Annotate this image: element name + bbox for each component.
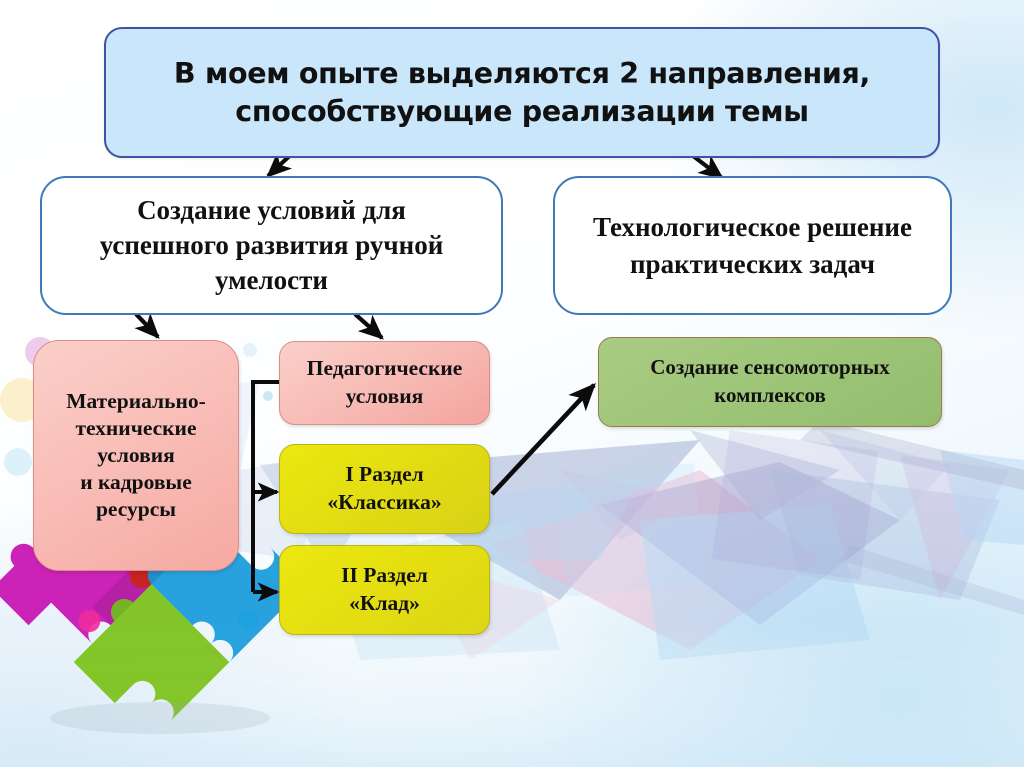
result-sensomotor-complexes: Создание сенсомоторных комплексов — [598, 337, 942, 427]
title-line-2: способствующие реализации темы — [106, 93, 938, 130]
slide-canvas: В моем опыте выделяются 2 направления, с… — [0, 0, 1024, 767]
sensomotor-line-1: Создание сенсомоторных — [599, 354, 941, 382]
material-line-5: ресурсы — [34, 496, 238, 523]
condition-pedagogical: Педагогические условия — [279, 341, 490, 425]
pedagogical-line-2: условия — [280, 383, 489, 411]
material-line-4: и кадровые — [34, 469, 238, 496]
section-one-line-2: «Классика» — [280, 489, 489, 517]
branch-technological-solution: Технологическое решение практических зад… — [553, 176, 952, 315]
branch-right-line-1: Технологическое решение — [555, 209, 950, 245]
title-box: В моем опыте выделяются 2 направления, с… — [104, 27, 940, 158]
material-line-3: условия — [34, 442, 238, 469]
section-two-line-1: II Раздел — [280, 562, 489, 590]
connector-section-one-to-sensomotor — [492, 385, 594, 494]
branch-left-line-1: Создание условий для — [42, 193, 501, 228]
section-one-classics: I Раздел «Классика» — [279, 444, 490, 534]
section-two-treasure: II Раздел «Клад» — [279, 545, 490, 635]
section-two-line-2: «Клад» — [280, 590, 489, 618]
branch-creating-conditions: Создание условий для успешного развития … — [40, 176, 503, 315]
sensomotor-line-2: комплексов — [599, 382, 941, 410]
connector-left-branch-to-pedagogical — [355, 314, 382, 338]
branch-left-line-2: успешного развития ручной — [42, 228, 501, 263]
pedagogical-line-1: Педагогические — [280, 355, 489, 383]
material-line-1: Материально- — [34, 388, 238, 415]
connector-left-branch-to-material — [136, 314, 158, 337]
title-text: В моем опыте выделяются 2 направления, с… — [106, 55, 938, 129]
branch-right-line-2: практических задач — [555, 246, 950, 282]
connector-pedagogical-to-sections — [253, 382, 279, 592]
section-one-line-1: I Раздел — [280, 461, 489, 489]
material-line-2: технические — [34, 415, 238, 442]
title-line-1: В моем опыте выделяются 2 направления, — [106, 55, 938, 92]
condition-material-technical: Материально- технические условия и кадро… — [33, 340, 239, 571]
branch-left-line-3: умелости — [42, 263, 501, 298]
